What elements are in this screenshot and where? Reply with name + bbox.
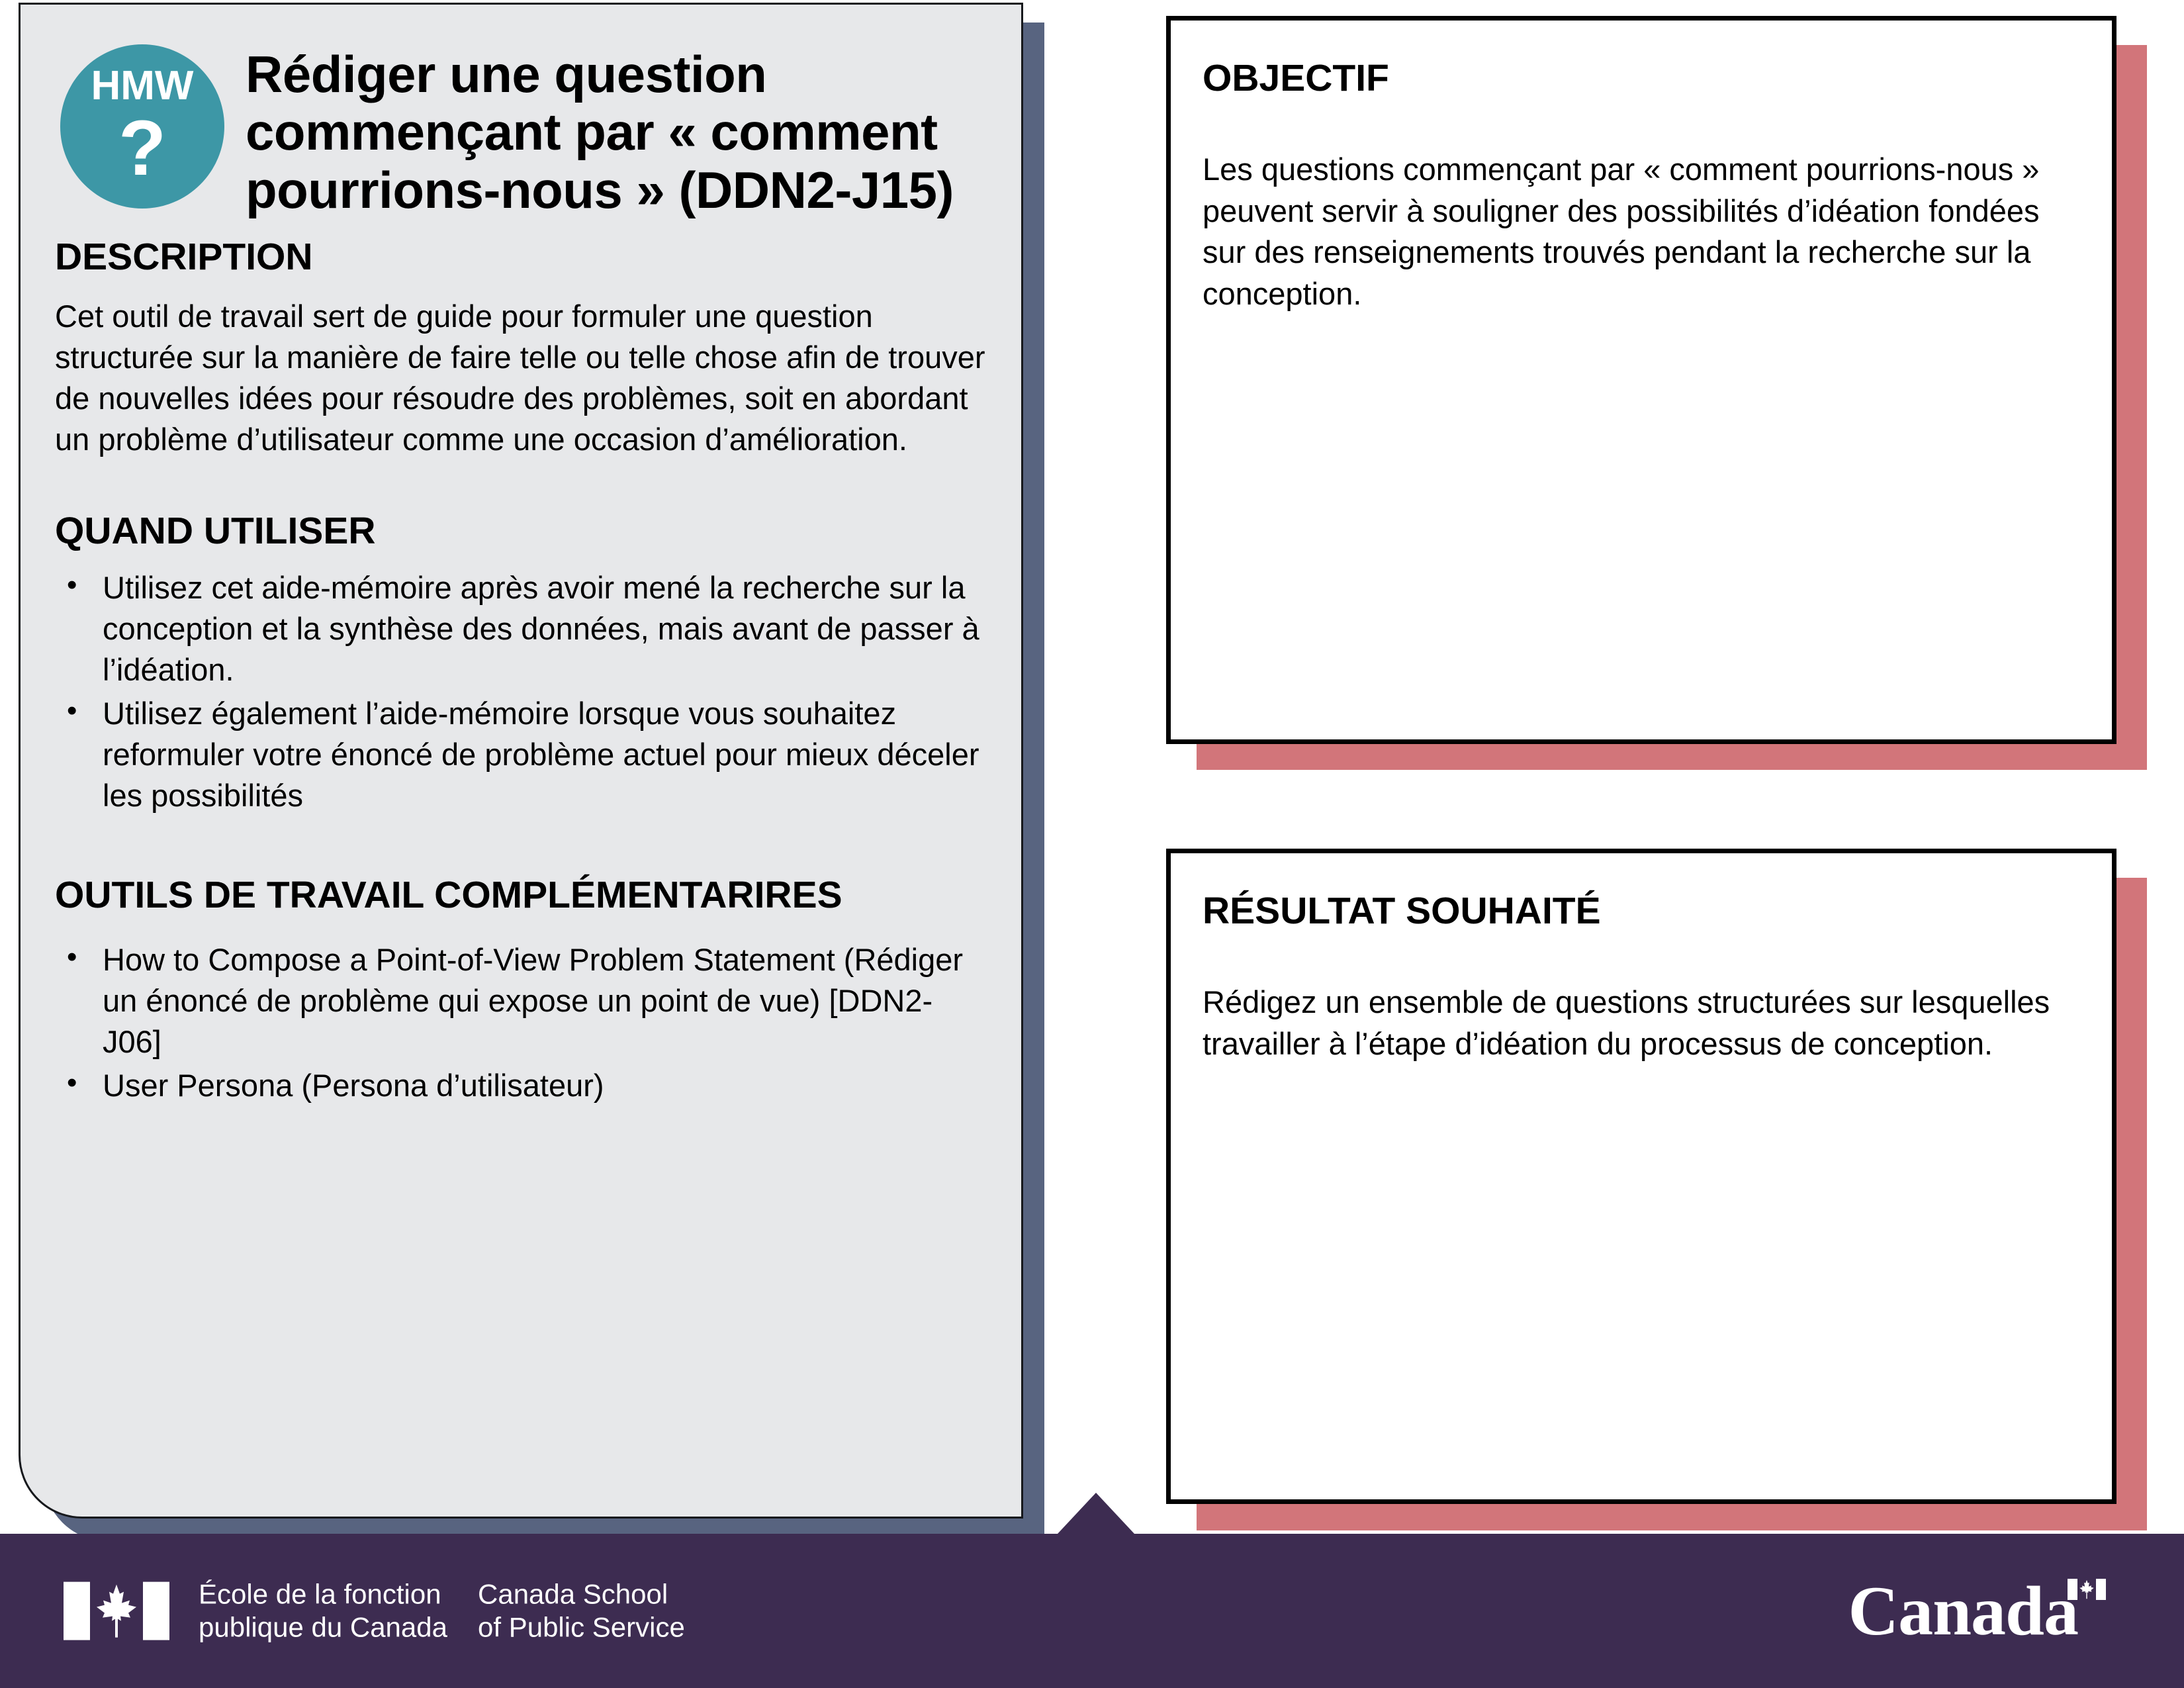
page-title: Rédiger une question commençant par « co… [246,46,987,219]
quand-utiliser-list: Utilisez cet aide-mémoire après avoir me… [55,567,987,816]
footer-triangle-marker-icon [1058,1493,1134,1534]
section-heading-quand-utiliser: QUAND UTILISER [55,509,987,553]
resultat-souhaite-text: Rédigez un ensemble de questions structu… [1203,982,2080,1064]
hmw-badge-icon: HMW ? [60,44,224,209]
canada-wordmark-text: Canada [1848,1576,2078,1646]
description-text: Cet outil de travail sert de guide pour … [55,296,987,460]
list-item: Utilisez également l’aide-mémoire lorsqu… [55,693,987,816]
canada-flag-icon [64,1582,169,1640]
objectif-text: Les questions commençant par « comment p… [1203,149,2080,314]
signature-english: Canada School of Public Service [478,1577,685,1644]
section-heading-description: DESCRIPTION [55,235,987,279]
resultat-souhaite-heading: RÉSULTAT SOUHAITÉ [1203,889,2080,933]
card-header: HMW ? Rédiger une question commençant pa… [55,35,987,219]
canada-wordmark: Canada [1848,1576,2106,1646]
list-item: Utilisez cet aide-mémoire après avoir me… [55,567,987,690]
signature-french: École de la fonction publique du Canada [199,1577,447,1644]
footer-bar: École de la fonction publique du Canada … [0,1534,2184,1688]
outils-complementaires-list: How to Compose a Point-of-View Problem S… [55,939,987,1106]
csps-signature: École de la fonction publique du Canada … [64,1577,685,1644]
left-info-card: HMW ? Rédiger une question commençant pa… [19,3,1023,1519]
objectif-box: OBJECTIF Les questions commençant par « … [1166,16,2116,744]
hmw-acronym: HMW [91,66,194,107]
resultat-souhaite-box: RÉSULTAT SOUHAITÉ Rédigez un ensemble de… [1166,849,2116,1504]
list-item: How to Compose a Point-of-View Problem S… [55,939,987,1062]
section-heading-outils-complementaires: OUTILS DE TRAVAIL COMPLÉMENTARIRES [55,873,987,917]
question-mark-icon: ? [118,109,166,187]
canada-flag-small-icon [2068,1579,2106,1600]
list-item: User Persona (Persona d’utilisateur) [55,1065,987,1106]
objectif-heading: OBJECTIF [1203,56,2080,100]
